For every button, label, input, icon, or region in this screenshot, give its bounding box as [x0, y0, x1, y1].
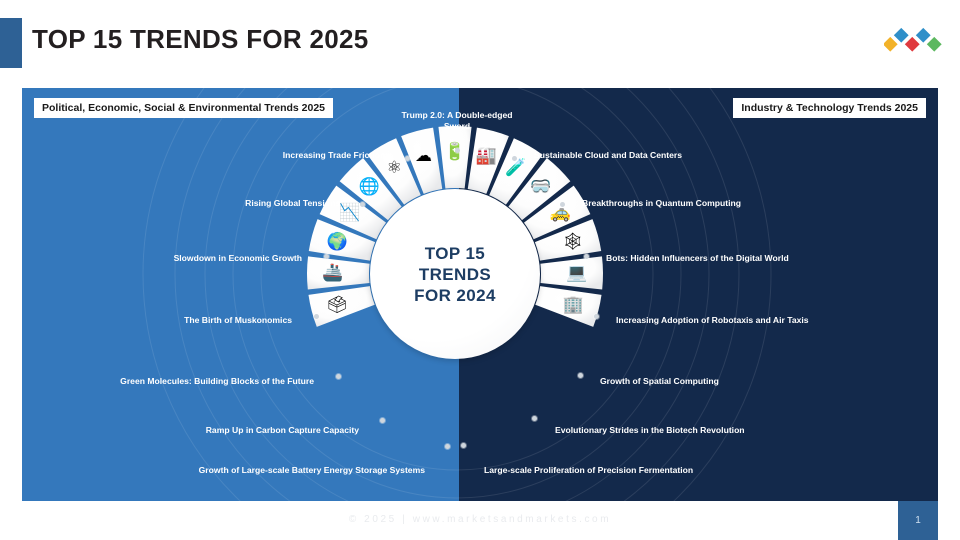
trend-label[interactable]: Sustainable Cloud and Data Centers: [534, 150, 682, 161]
slide: TOP 15 TRENDS FOR 2025 Political, Econom…: [0, 0, 960, 540]
connector-dot: [405, 156, 410, 161]
trend-label[interactable]: Rising Global Tensions: [245, 198, 340, 209]
connector-dot: [380, 418, 385, 423]
trend-label[interactable]: Growth of Large-scale Battery Energy Sto…: [199, 465, 425, 476]
connector-dot: [578, 373, 583, 378]
trend-label[interactable]: Slowdown in Economic Growth: [174, 253, 302, 264]
trend-label[interactable]: Large-scale Proliferation of Precision F…: [484, 465, 693, 476]
trend-label[interactable]: Evolutionary Strides in the Biotech Revo…: [555, 425, 745, 436]
connector-dot: [336, 374, 341, 379]
trend-label[interactable]: Breakthroughs in Quantum Computing: [582, 198, 741, 209]
connector-dot: [360, 202, 365, 207]
connector-dot: [594, 314, 599, 319]
page-title: TOP 15 TRENDS FOR 2025: [32, 24, 369, 55]
connector-dot: [532, 416, 537, 421]
trend-label-layer: Trump 2.0: A Double-edged SwordIncreasin…: [22, 88, 938, 501]
trend-label[interactable]: The Birth of Muskonomics: [184, 315, 292, 326]
trend-label[interactable]: Growth of Spatial Computing: [600, 376, 719, 387]
connector-dot: [512, 156, 517, 161]
connector-dot: [455, 148, 460, 153]
connector-dot: [324, 254, 329, 259]
trend-label[interactable]: Increasing Trade Friction: [283, 150, 385, 161]
connector-dot: [461, 443, 466, 448]
title-accent-bar: [0, 18, 22, 68]
connector-dot: [584, 254, 589, 259]
trend-label[interactable]: Ramp Up in Carbon Capture Capacity: [206, 425, 359, 436]
trend-label[interactable]: Bots: Hidden Influencers of the Digital …: [606, 253, 789, 264]
marketsandmarkets-logo: [884, 27, 942, 57]
footer: © 2025 | www.marketsandmarkets.com: [0, 501, 960, 540]
content-panel: Political, Economic, Social & Environmen…: [22, 88, 938, 501]
trend-label[interactable]: Green Molecules: Building Blocks of the …: [120, 376, 314, 387]
trend-label[interactable]: Trump 2.0: A Double-edged Sword: [397, 110, 517, 132]
connector-dot: [314, 314, 319, 319]
connector-dot: [445, 444, 450, 449]
footer-copyright: © 2025 | www.marketsandmarkets.com: [0, 514, 960, 525]
trend-label[interactable]: Increasing Adoption of Robotaxis and Air…: [616, 315, 809, 326]
page-number-badge: 1: [898, 501, 938, 540]
connector-dot: [560, 202, 565, 207]
